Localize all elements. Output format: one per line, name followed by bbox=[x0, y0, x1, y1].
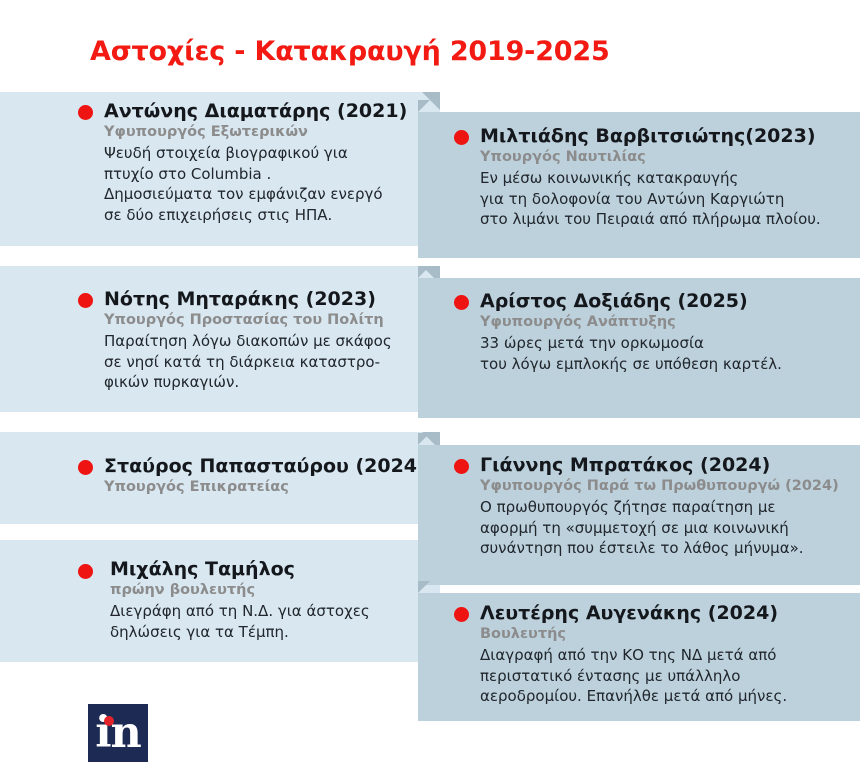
person-description: Εν μέσω κοινωνικής κατακραυγής για τη δο… bbox=[480, 168, 860, 230]
folded-corner-icon bbox=[418, 581, 430, 593]
person-description: Διαγραφή από την ΚΟ της ΝΔ μετά από περι… bbox=[480, 645, 860, 707]
infographic-canvas: Αστοχίες - Κατακραυγή 2019-2025 Αντώνης … bbox=[0, 0, 860, 780]
card-right-2: Αρίστος Δοξιάδης (2025) Υφυπουργός Ανάπτ… bbox=[418, 278, 860, 418]
person-description: Ψευδή στοιχεία βιογραφικού για πτυχίο στ… bbox=[104, 143, 440, 225]
bullet-icon bbox=[78, 105, 93, 120]
person-role: Υφυπουργός Παρά τω Πρωθυπουργώ (2024) bbox=[480, 477, 860, 496]
person-role: Βουλευτής bbox=[480, 625, 860, 644]
logo-text: in bbox=[88, 704, 148, 762]
person-description: Παραίτηση λόγω διακοπών με σκάφος σε νησ… bbox=[104, 331, 440, 393]
bullet-icon bbox=[454, 130, 469, 145]
person-name: Νότης Μηταράκης (2023) bbox=[104, 288, 440, 310]
person-name: Σταύρος Παπασταύρου (2024) bbox=[104, 455, 440, 477]
in-logo[interactable]: in bbox=[88, 704, 148, 762]
logo-dot-icon bbox=[104, 716, 114, 726]
bullet-icon bbox=[78, 564, 93, 579]
bullet-icon bbox=[454, 459, 469, 474]
card-left-1: Αντώνης Διαματάρης (2021) Υφυπουργός Εξω… bbox=[0, 92, 440, 246]
person-name: Λευτέρης Αυγενάκης (2024) bbox=[480, 602, 860, 624]
person-name: Αντώνης Διαματάρης (2021) bbox=[104, 100, 440, 122]
person-description: 33 ώρες μετά την ορκωμοσία του λόγω εμπλ… bbox=[480, 333, 860, 374]
card-right-3: Γιάννης Μπρατάκος (2024) Υφυπουργός Παρά… bbox=[418, 445, 860, 585]
person-name: Αρίστος Δοξιάδης (2025) bbox=[480, 290, 860, 312]
person-role: Υφυπουργός Ανάπτυξης bbox=[480, 313, 860, 332]
person-name: Μιχάλης Ταμήλος bbox=[110, 558, 440, 580]
bullet-icon bbox=[78, 293, 93, 308]
card-right-4: Λευτέρης Αυγενάκης (2024) Βουλευτής Διαγ… bbox=[418, 593, 860, 721]
folded-corner-icon bbox=[418, 266, 430, 278]
card-right-1: Μιλτιάδης Βαρβιτσιώτης(2023) Υπουργός Να… bbox=[418, 112, 860, 258]
person-description: Διεγράφη από τη Ν.Δ. για άστοχες δηλώσει… bbox=[110, 601, 440, 642]
card-left-4: Μιχάλης Ταμήλος πρώην βουλευτής Διεγράφη… bbox=[0, 540, 440, 662]
bullet-icon bbox=[78, 460, 93, 475]
bullet-icon bbox=[454, 295, 469, 310]
person-role: πρώην βουλευτής bbox=[110, 581, 440, 600]
person-name: Μιλτιάδης Βαρβιτσιώτης(2023) bbox=[480, 125, 860, 147]
folded-corner-icon bbox=[418, 100, 430, 112]
bullet-icon bbox=[454, 607, 469, 622]
person-role: Υπουργός Προστασίας του Πολίτη bbox=[104, 311, 440, 330]
card-left-2: Νότης Μηταράκης (2023) Υπουργός Προστασί… bbox=[0, 266, 440, 412]
person-role: Υπουργός Επικρατείας bbox=[104, 478, 440, 497]
card-left-3: Σταύρος Παπασταύρου (2024) Υπουργός Επικ… bbox=[0, 432, 440, 524]
person-description: Ο πρωθυπουργός ζήτησε παραίτηση με αφορμ… bbox=[480, 497, 860, 559]
folded-corner-icon bbox=[418, 433, 430, 445]
person-role: Υπουργός Ναυτιλίας bbox=[480, 148, 860, 167]
page-title: Αστοχίες - Κατακραυγή 2019-2025 bbox=[90, 36, 610, 67]
person-role: Υφυπουργός Εξωτερικών bbox=[104, 123, 440, 142]
person-name: Γιάννης Μπρατάκος (2024) bbox=[480, 454, 860, 476]
